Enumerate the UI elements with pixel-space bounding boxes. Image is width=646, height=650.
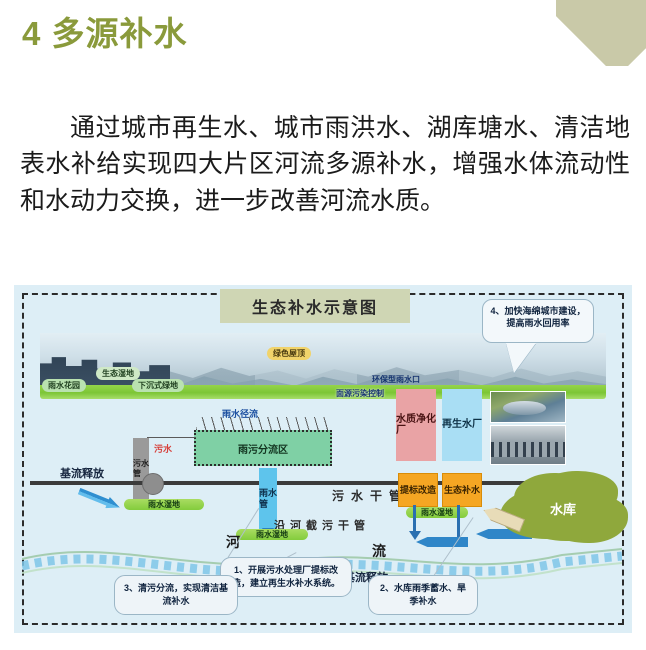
label-eco-wetland: 生态湿地 [96, 367, 140, 380]
label-sunken-green-space: 下沉式绿地 [132, 379, 184, 392]
label-eco-drain-inlet: 环保型雨水口 [366, 373, 426, 386]
rain-runoff-hatch-icon [196, 417, 330, 430]
rain-wetland-left: 雨水湿地 [124, 499, 204, 510]
page-title: 4 多源补水 [22, 7, 188, 55]
upgrade-retrofit-box: 提标改造 [398, 473, 438, 507]
aerial-plant-photo [490, 391, 566, 423]
label-green-roof: 绿色屋顶 [267, 347, 311, 360]
reservoir: 水库 [512, 475, 614, 541]
label-sewage-trunk: 污水干管 [332, 487, 408, 504]
diagram-title: 生态补水示意图 [220, 289, 410, 323]
reclaimed-water-plant: 再生水厂 [442, 389, 482, 461]
callout-3: 3、清污分流，实现清洁基流补水 [114, 575, 238, 615]
sewage-trunk-line [30, 481, 582, 485]
junction-node-icon [142, 473, 164, 495]
body-paragraph: 通过城市再生水、城市雨洪水、湖库塘水、清洁地表水补给实现四大片区河流多源补水，增… [20, 110, 630, 219]
callout-1: 1、开展污水处理厂提标改造，建立再生水补水系统。 [220, 557, 352, 597]
treatment-facility-photo [490, 425, 566, 465]
label-rain-garden: 雨水花园 [42, 379, 86, 392]
label-nonpoint-source-control: 面源污染控制 [330, 387, 390, 400]
callout-2: 2、水库雨季蓄水、旱季补水 [368, 575, 478, 615]
water-purification-plant: 水质净化厂 [396, 389, 436, 461]
rain-sewage-separation-zone: 雨污分流区 [194, 430, 332, 466]
label-base-flow-release-left: 基流释放 [60, 465, 104, 481]
eco-replenish-box: 生态补水 [442, 473, 482, 507]
callout-4: 4、加快海绵城市建设，提高雨水回用率 [482, 299, 594, 343]
label-river-char-2: 流 [372, 541, 386, 561]
corner-decoration [556, 0, 646, 66]
callout-4-tail [506, 343, 536, 373]
label-sewage: 污水 [154, 442, 172, 455]
eco-replenishment-diagram: 生态补水示意图 绿色屋顶 生态湿地 雨水花园 下沉式绿地 环保型雨水口 面源污染… [14, 285, 632, 633]
